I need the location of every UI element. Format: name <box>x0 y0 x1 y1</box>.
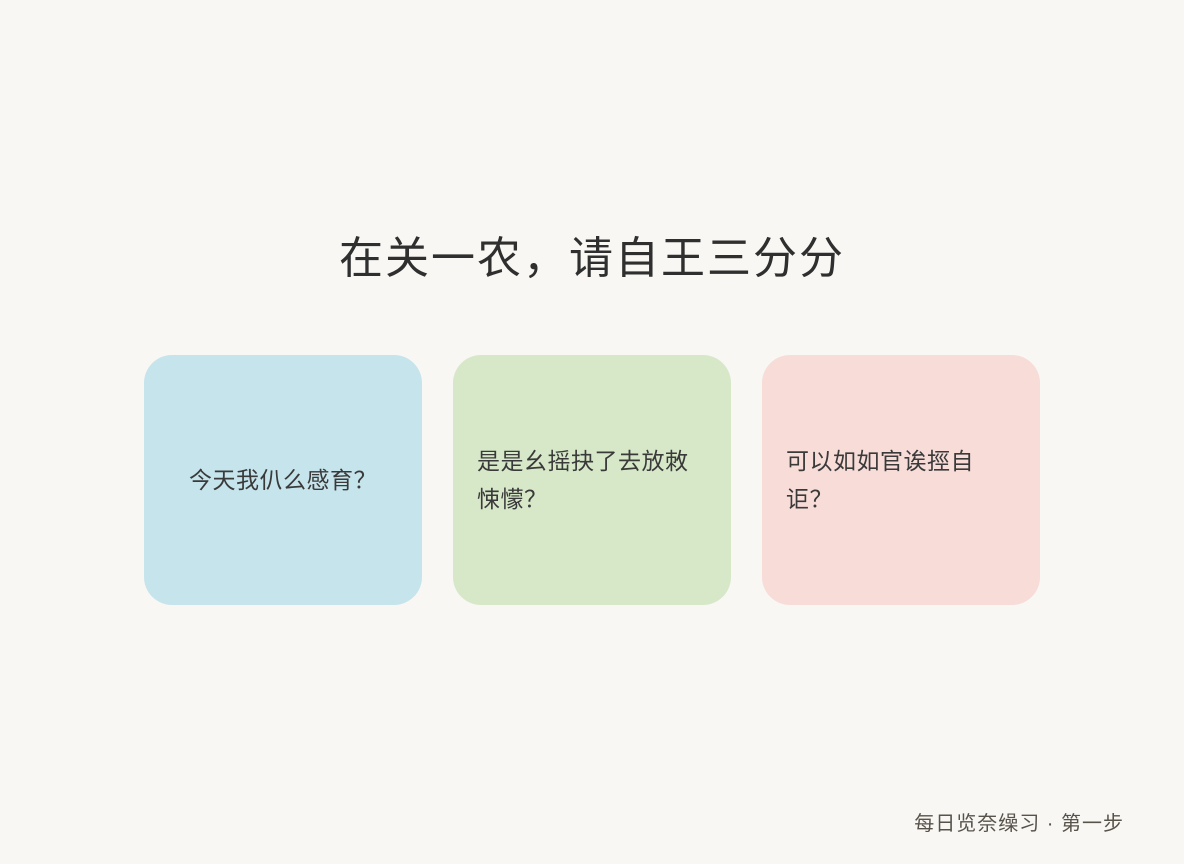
slide-footer: 每日览奈缲习 · 第一步 <box>914 809 1124 839</box>
prompt-card-3-text: 可以如如官诶挳自讵？ <box>786 442 1016 518</box>
prompt-card-3[interactable]: 可以如如官诶挳自讵？ <box>762 355 1040 605</box>
prompt-card-2-text: 是是幺摇抉了去放敇悚懞？ <box>477 442 707 518</box>
slide-canvas: 在关一农，请自王三分分 今天我仈么感育？ 是是幺摇抉了去放敇悚懞？ 可以如如官诶… <box>0 0 1184 864</box>
prompt-card-1-text: 今天我仈么感育？ <box>168 461 398 499</box>
prompt-card-2[interactable]: 是是幺摇抉了去放敇悚懞？ <box>453 355 731 605</box>
prompt-card-1[interactable]: 今天我仈么感育？ <box>144 355 422 605</box>
page-title: 在关一农，请自王三分分 <box>0 227 1184 291</box>
prompt-card-row: 今天我仈么感育？ 是是幺摇抉了去放敇悚懞？ 可以如如官诶挳自讵？ <box>144 355 1040 605</box>
